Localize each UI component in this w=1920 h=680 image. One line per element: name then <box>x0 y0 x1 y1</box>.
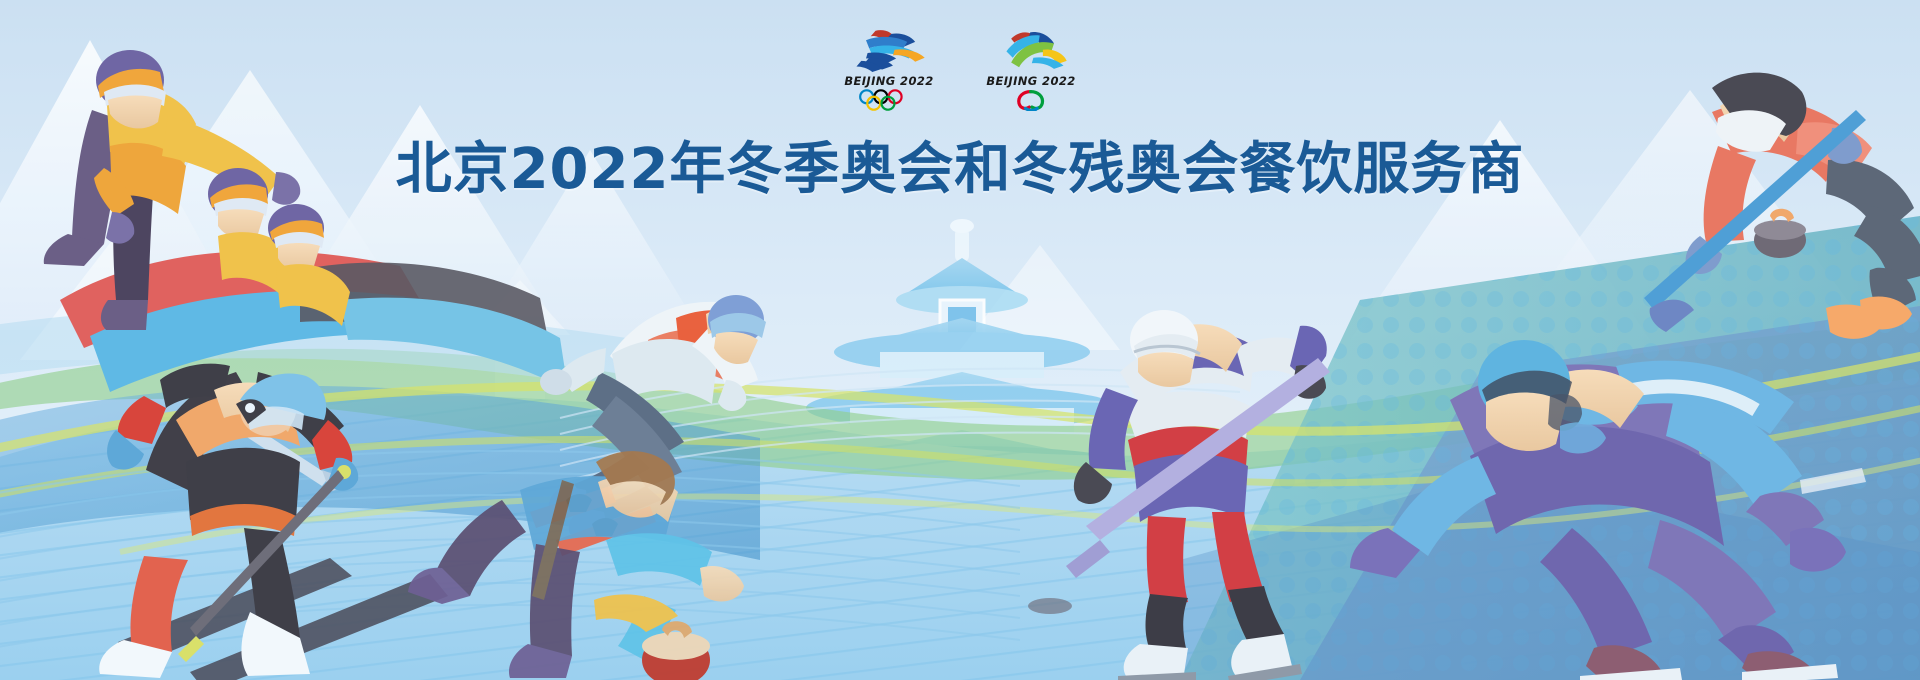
emblem-row: BEIJING 2022 BEIJING 2022 <box>0 26 1920 118</box>
agitos-paralympic-symbol <box>997 89 1064 111</box>
flying-high-paralympic-emblem <box>987 26 1075 72</box>
athlete-curler-delivery <box>408 451 744 680</box>
beijing-2022-paralympic-logo: BEIJING 2022 <box>979 26 1083 111</box>
athlete-ice-hockey-player <box>1028 310 1330 680</box>
hockey-skate-left <box>1124 644 1188 676</box>
olympic-rings <box>855 89 922 111</box>
hockey-puck <box>1028 598 1072 614</box>
athlete-cross-country-skier <box>99 364 448 680</box>
athlete-speed-skater <box>1350 340 1866 680</box>
winter-dream-olympic-emblem <box>845 26 933 72</box>
paralympic-wordmark: BEIJING 2022 <box>986 74 1075 88</box>
speedskater-arm-left <box>1392 456 1496 556</box>
curler-arm <box>606 533 712 586</box>
beijing-2022-olympic-logo: BEIJING 2022 <box>837 26 941 111</box>
page-title: 北京2022年冬季奥会和冬残奥会餐饮服务商 <box>0 124 1920 205</box>
olympic-banner: BEIJING 2022 BEIJING 2022 <box>0 0 1920 680</box>
olympic-wordmark: BEIJING 2022 <box>844 74 933 88</box>
